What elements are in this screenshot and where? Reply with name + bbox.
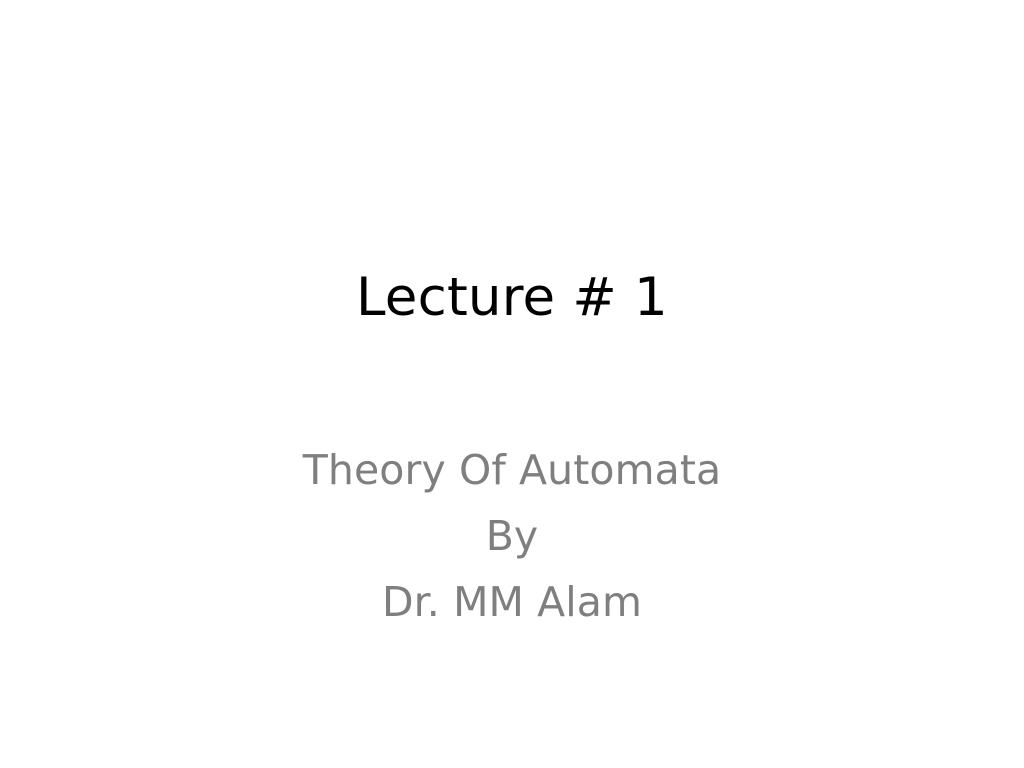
presentation-slide: Lecture # 1 Theory Of Automata By Dr. MM… bbox=[0, 0, 1024, 768]
subtitle-line-course: Theory Of Automata bbox=[77, 437, 947, 503]
slide-subtitle-placeholder[interactable]: Theory Of Automata By Dr. MM Alam bbox=[77, 437, 947, 635]
subtitle-line-author: Dr. MM Alam bbox=[77, 569, 947, 635]
slide-title-placeholder[interactable]: Lecture # 1 bbox=[77, 268, 947, 327]
page-title: Lecture # 1 bbox=[77, 268, 947, 327]
subtitle-line-by: By bbox=[77, 503, 947, 569]
